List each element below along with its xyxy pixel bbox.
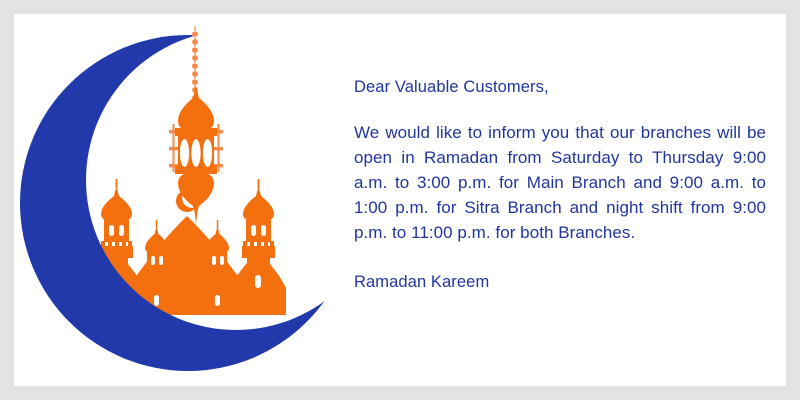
crescent-moon-with-mosque-and-lantern <box>20 20 356 386</box>
closing-text: Ramadan Kareem <box>354 271 766 293</box>
salutation-text: Dear Valuable Customers, <box>354 76 766 98</box>
crescent-moon <box>20 20 356 386</box>
lantern-windows <box>180 139 212 167</box>
ramadan-notice-banner: Dear Valuable Customers, We would like t… <box>0 0 800 400</box>
notice-message: Dear Valuable Customers, We would like t… <box>354 76 766 294</box>
notice-card: Dear Valuable Customers, We would like t… <box>14 14 786 386</box>
body-text: We would like to inform you that our bra… <box>354 120 766 245</box>
